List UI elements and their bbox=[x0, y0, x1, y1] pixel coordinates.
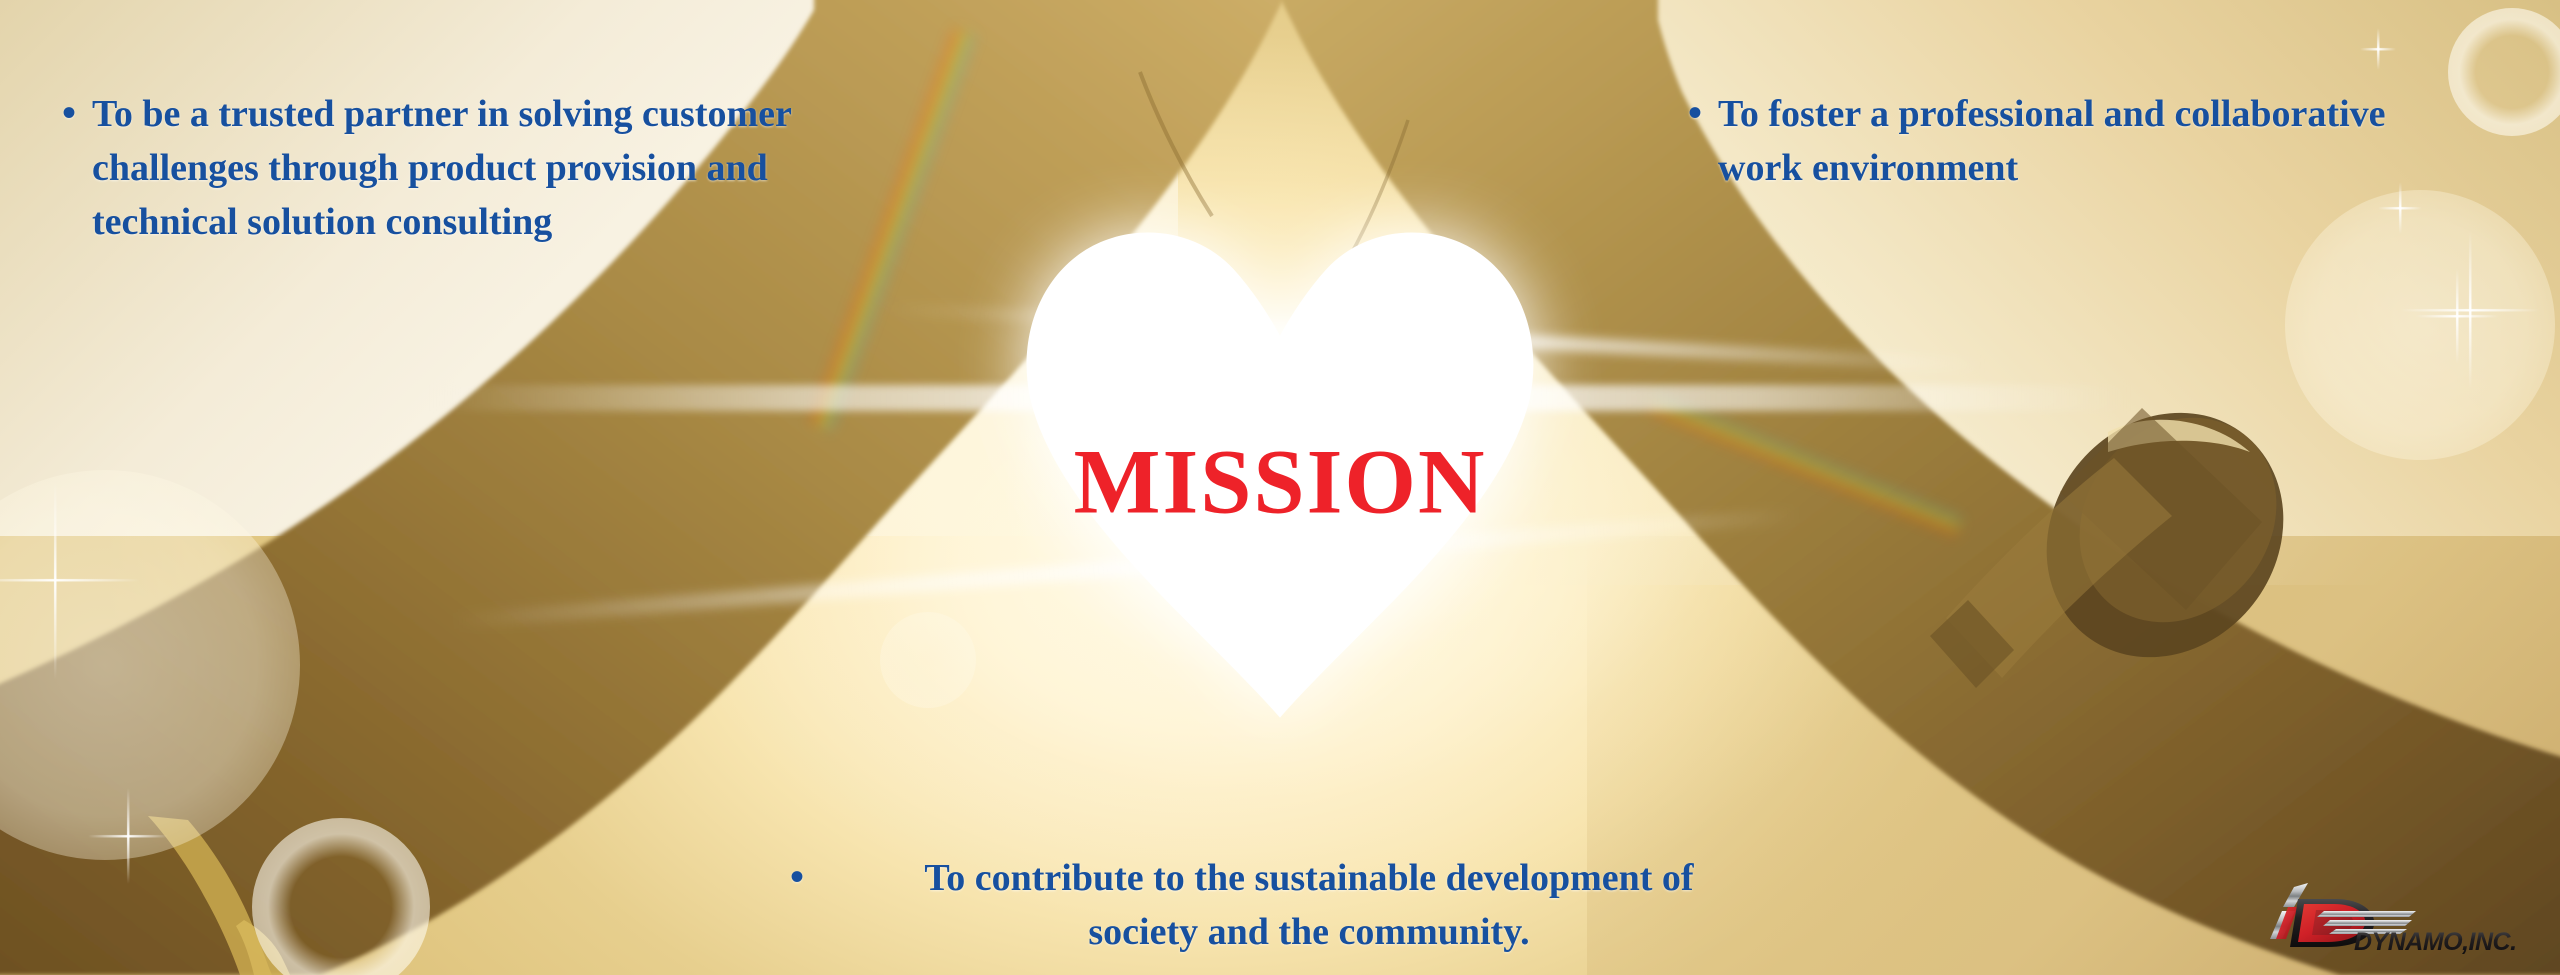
mission-point-line: To be a trusted partner in solving custo… bbox=[92, 93, 792, 135]
bullet-icon: • bbox=[790, 852, 804, 902]
background-highlight-top-left bbox=[0, 0, 1178, 536]
dynamo-logo[interactable]: DYNAMO,INC. bbox=[2264, 877, 2534, 957]
mission-point-line: challenges through product provision and bbox=[92, 147, 768, 189]
logo-speed-line-2-icon bbox=[2323, 920, 2412, 926]
bullet-icon: • bbox=[1688, 88, 1702, 138]
mission-point-line: work environment bbox=[1718, 147, 2018, 189]
mission-point-line: To contribute to the sustainable develop… bbox=[924, 857, 1693, 899]
mission-point-line: society and the community. bbox=[1088, 911, 1529, 953]
mission-point-trusted-partner: • To be a trusted partner in solving cus… bbox=[62, 88, 922, 250]
mission-point-line: To foster a professional and collaborati… bbox=[1718, 93, 2386, 135]
mission-point-text: To contribute to the sustainable develop… bbox=[848, 852, 1770, 960]
bullet-icon: • bbox=[62, 88, 76, 138]
logo-wordmark: DYNAMO,INC. bbox=[2354, 928, 2517, 956]
mission-point-text: To be a trusted partner in solving custo… bbox=[92, 88, 792, 250]
mission-point-line: technical solution consulting bbox=[92, 201, 552, 243]
mission-banner: MISSION • To be a trusted partner in sol… bbox=[0, 0, 2560, 975]
lens-flare-ray-horizontal bbox=[430, 385, 2130, 411]
logo-speed-line-1-icon bbox=[2317, 911, 2416, 917]
mission-point-text: To foster a professional and collaborati… bbox=[1718, 88, 2386, 196]
mission-heading: MISSION bbox=[1074, 428, 1487, 534]
mission-point-work-environment: • To foster a professional and collabora… bbox=[1688, 88, 2508, 196]
mission-point-sustainable-development: • To contribute to the sustainable devel… bbox=[790, 852, 1770, 960]
